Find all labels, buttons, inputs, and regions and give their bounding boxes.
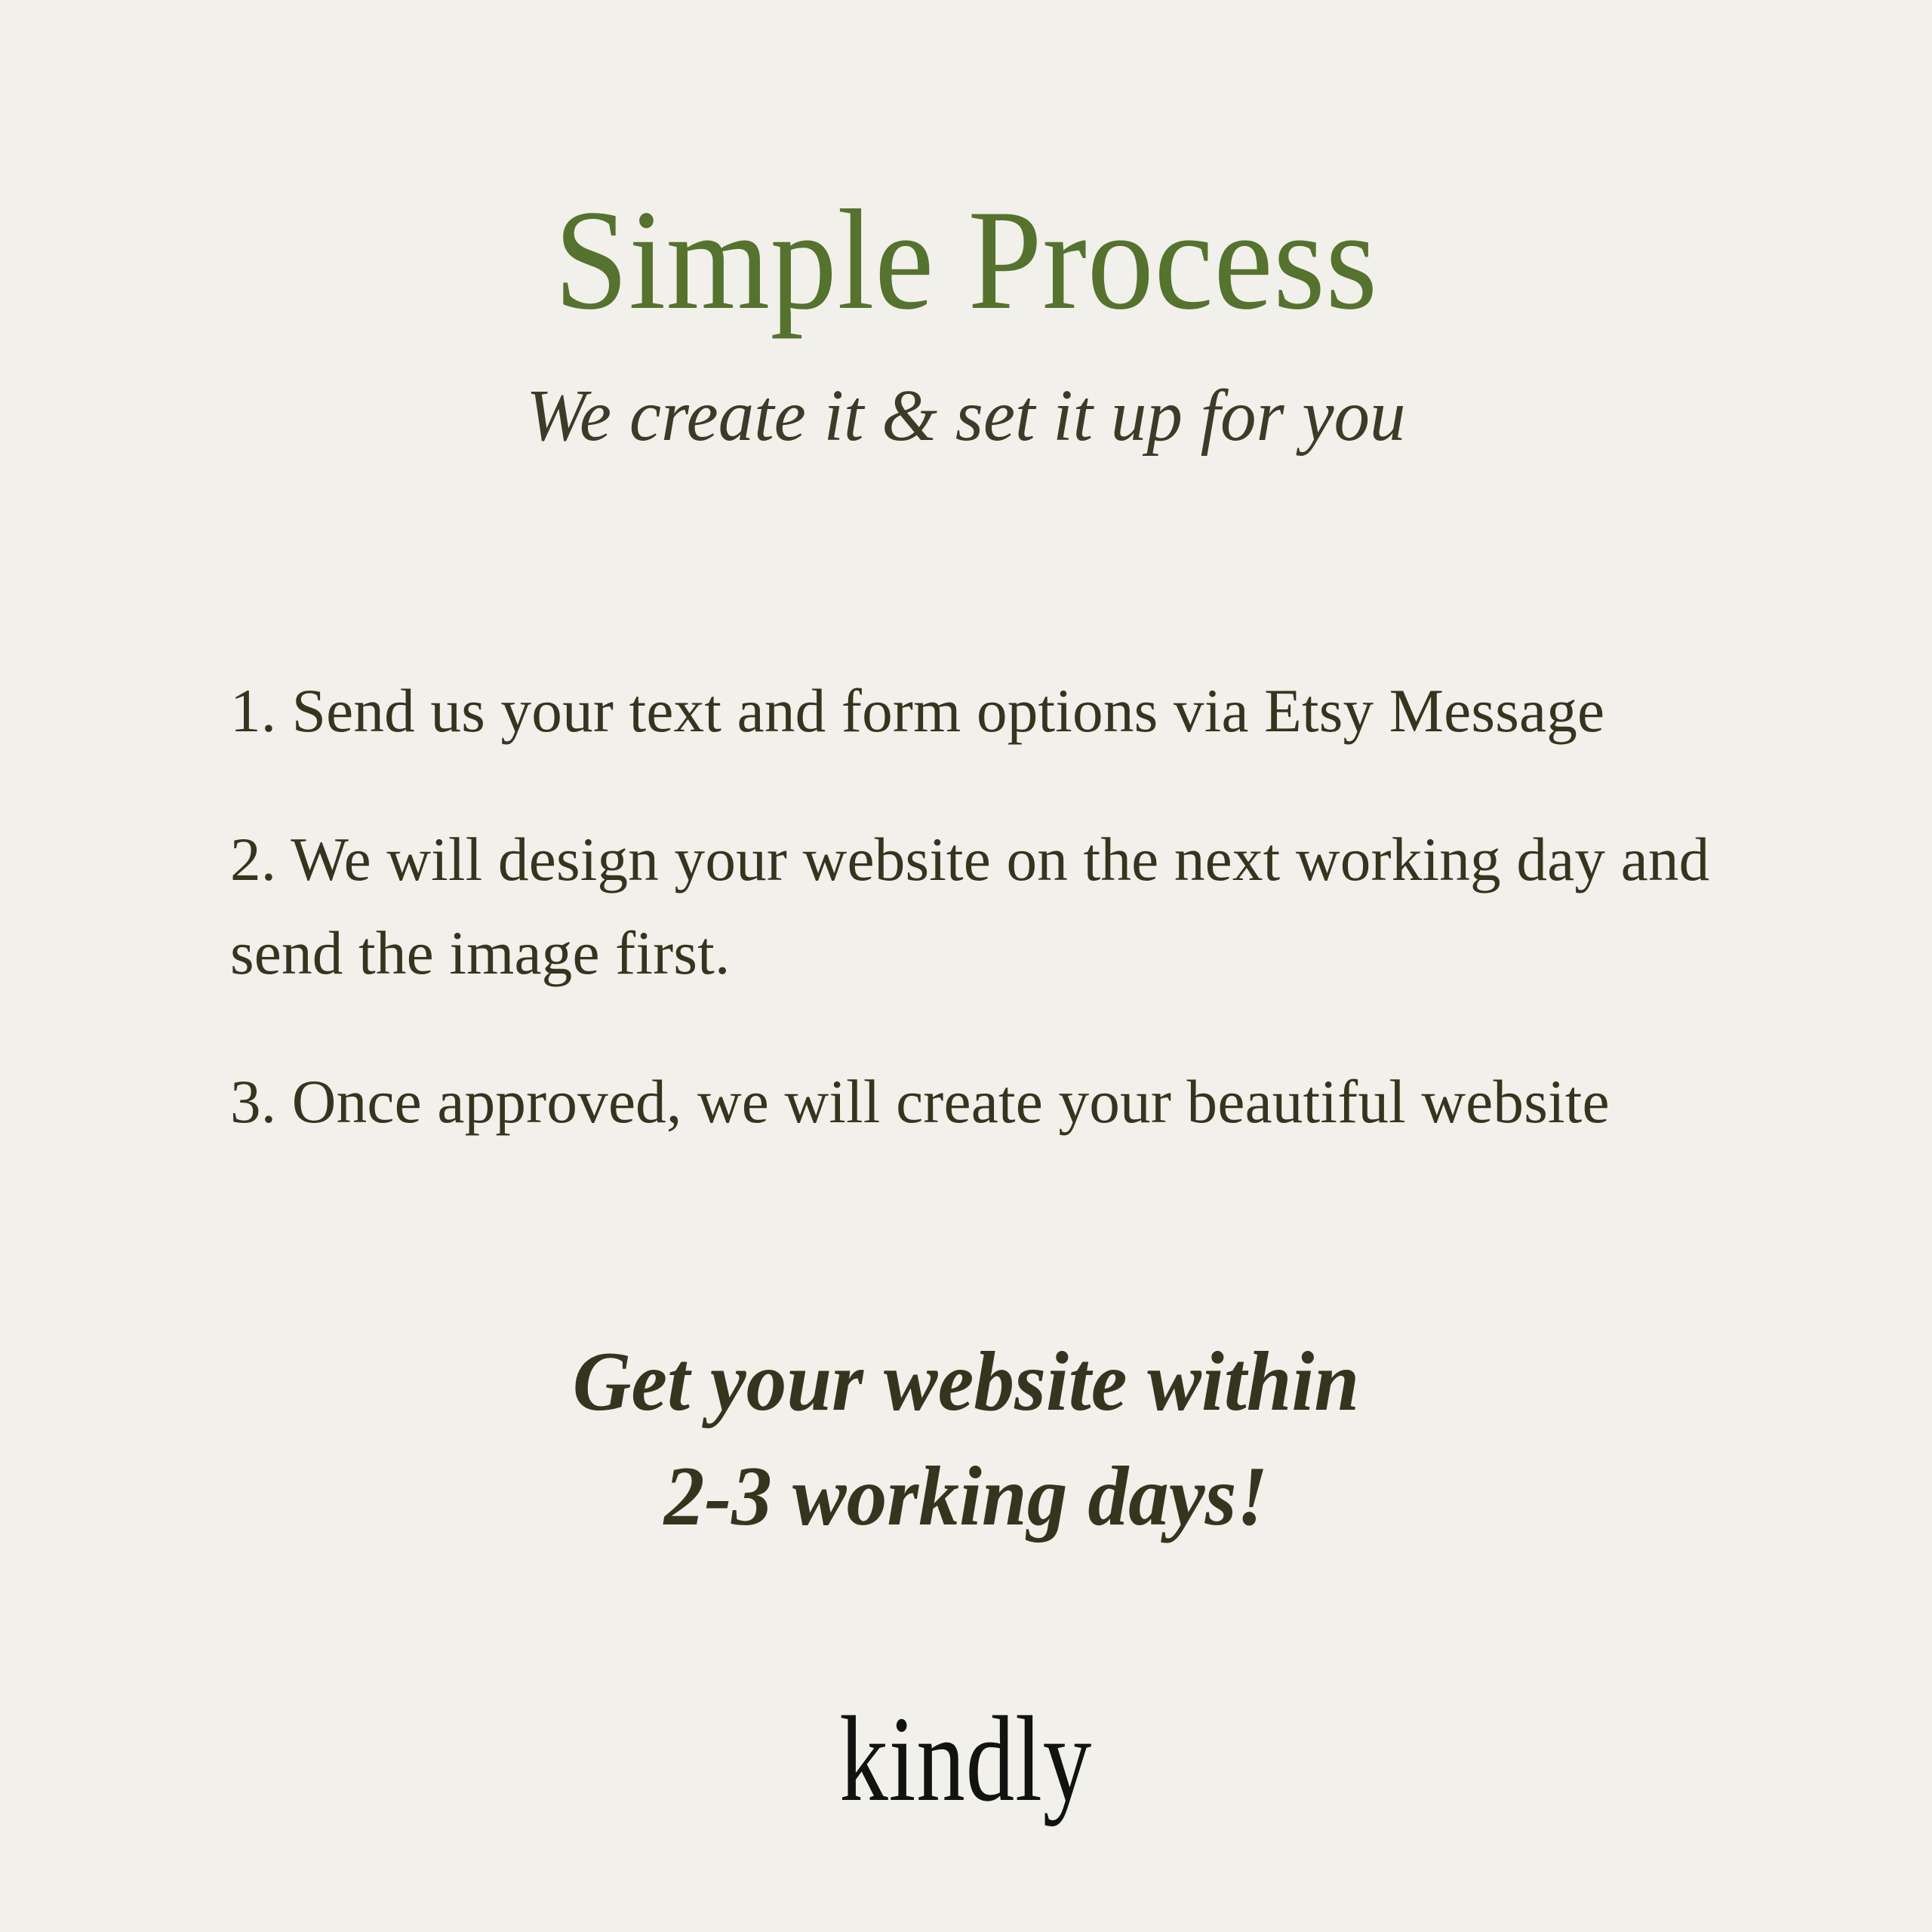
delivery-callout-line-1: Get your website within xyxy=(38,1324,1894,1439)
delivery-callout: Get your website within 2-3 working days… xyxy=(0,1324,1932,1555)
brand-wordmark-kindly: kindly xyxy=(840,1698,1093,1820)
page-title: Simple Process xyxy=(68,189,1865,332)
process-steps-list: 1. Send us your text and form options vi… xyxy=(230,664,1740,1149)
brand-logo: kindly xyxy=(0,1698,1932,1811)
poster-header: Simple Process We create it & set it up … xyxy=(0,189,1932,453)
process-step-1: 1. Send us your text and form options vi… xyxy=(230,664,1724,758)
process-step-3: 3. Once approved, we will create your be… xyxy=(230,1055,1724,1149)
poster-canvas: Simple Process We create it & set it up … xyxy=(0,0,1932,1932)
process-step-2: 2. We will design your website on the ne… xyxy=(230,813,1724,1001)
page-subtitle: We create it & set it up for you xyxy=(29,379,1903,453)
delivery-callout-line-2: 2-3 working days! xyxy=(38,1439,1894,1554)
